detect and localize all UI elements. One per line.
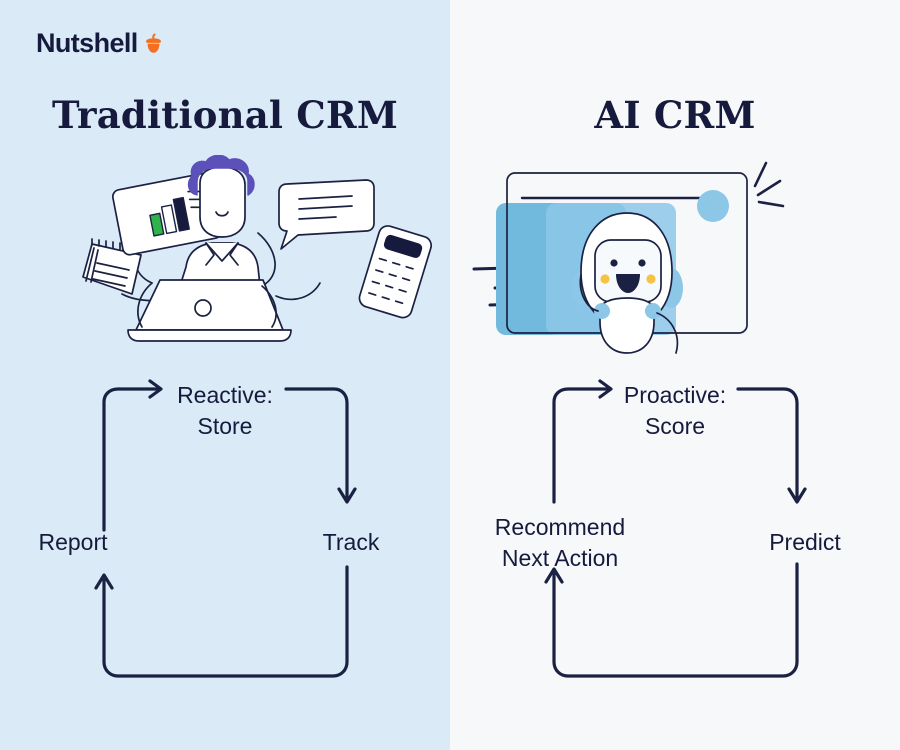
arrow-predict-to-recommend [554, 564, 797, 676]
cycle-ai-crm: Proactive: Score Recommend Next Action P… [450, 372, 900, 702]
acorn-icon [144, 33, 163, 55]
person-multitasking-at-laptop-illustration [0, 155, 450, 355]
cycle-traditional-crm: Reactive: Store Report Track [0, 372, 450, 702]
cycle-node-recommend: Recommend Next Action [460, 512, 660, 573]
cycle-node-predict: Predict [740, 527, 870, 558]
panel-traditional-crm: Nutshell Traditional CRM [0, 0, 450, 750]
ai-robot-in-browser-window-illustration [450, 155, 900, 355]
cycle-node-track: Track [286, 527, 416, 558]
crm-comparison-infographic: Nutshell Traditional CRM [0, 0, 900, 750]
heading-ai-crm: AI CRM [450, 97, 900, 134]
cycle-node-store: Reactive: Store [145, 380, 305, 441]
panel-ai-crm: AI CRM [450, 0, 900, 750]
logo-wordmark: Nutshell [36, 30, 138, 57]
nutshell-logo[interactable]: Nutshell [36, 30, 163, 57]
cycle-node-report: Report [8, 527, 138, 558]
cycle-node-score: Proactive: Score [595, 380, 755, 441]
heading-traditional-crm: Traditional CRM [0, 97, 450, 134]
arrow-track-to-report [104, 567, 347, 676]
